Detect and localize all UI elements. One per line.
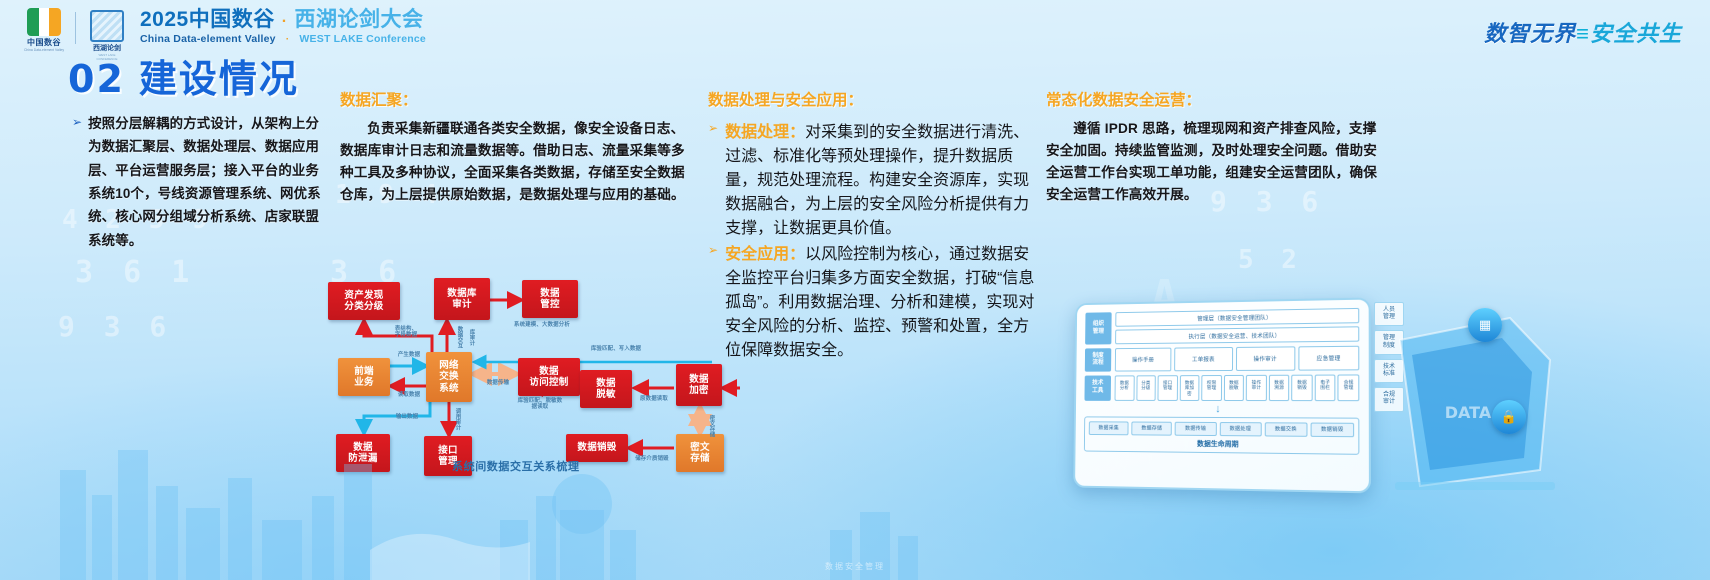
bullet-item: ➢ 按照分层解耦的方式设计，从架构上分为数据汇聚层、数据处理层、数据应用层、平台… bbox=[72, 112, 322, 252]
column-normalized-operation: 常态化数据安全运营： 遵循 IPDR 思路，梳理现网和资产排查风险，支撑安全加固… bbox=[1046, 88, 1390, 209]
flow-label-13: 密文存储 bbox=[708, 412, 714, 440]
flow-label-1: 表结构、 字段数据 bbox=[382, 326, 430, 339]
flow-label-5: 产生数据 bbox=[388, 352, 430, 358]
flow-node-encrypt[interactable]: 数据 加密 bbox=[676, 364, 722, 406]
flow-label-12: 原数据读取 bbox=[634, 396, 674, 402]
col2-heading: 数据汇聚： bbox=[340, 88, 688, 110]
mockup-lifecycle-cell: 数据交换 bbox=[1264, 422, 1307, 437]
watermark-digits: 3 6 1 bbox=[75, 255, 195, 290]
flow-diagram: 资产发现 分类分级 数据库 审计 数据 管控 前端 业务 网络 交换 系统 数据… bbox=[322, 276, 742, 486]
header-title-dot-en: · bbox=[286, 33, 290, 45]
col4-paragraph: 遵循 IPDR 思路，梳理现网和资产排查风险，支撑安全加固。持续监管监测，及时处… bbox=[1046, 118, 1390, 206]
flow-label-7: 输出数据 bbox=[384, 414, 430, 420]
svg-text:DATA: DATA bbox=[1445, 403, 1492, 422]
header-title-cn-a: 2025中国数谷 bbox=[140, 8, 275, 31]
mockup-lifecycle-cell: 数据销毁 bbox=[1310, 422, 1354, 437]
logo2-emblem bbox=[90, 10, 124, 42]
page-title: 02建设情况 bbox=[68, 48, 299, 103]
mockup-tool-cell: 数据 销毁 bbox=[1292, 375, 1313, 401]
mockup-arrow-down-icon: ↓ bbox=[1084, 405, 1359, 416]
col3-heading: 数据处理与安全应用： bbox=[708, 88, 1044, 110]
header-title-cn-b: 西湖论剑大会 bbox=[295, 8, 424, 31]
mockup-tool-cell: 数据 溯源 bbox=[1269, 375, 1290, 401]
column-data-aggregation: 数据汇聚： 负责采集新疆联通各类安全数据，像安全设备日志、数据库审计日志和流量数… bbox=[340, 88, 688, 209]
mockup-tool-cell: 权限 管理 bbox=[1201, 375, 1221, 401]
footer-watermark: 数据安全管理 bbox=[825, 561, 885, 572]
platform-mockup: 组织 管理 管理层（数据安全管理团队） 执行层（数据安全运营、技术团队） 制度 … bbox=[1073, 297, 1371, 493]
flow-caption: 系统间数据交互关系梳理 bbox=[452, 458, 580, 474]
section-number: 02 bbox=[68, 57, 125, 101]
flow-label-2: 数据交互 bbox=[456, 322, 462, 352]
flow-node-dbaudit[interactable]: 数据库 审计 bbox=[434, 278, 490, 320]
mockup-side-tools: 技术 工具 bbox=[1084, 375, 1111, 400]
flow-label-3: 库审计 bbox=[468, 322, 474, 352]
flow-label-6: 读取数据 bbox=[388, 392, 430, 398]
mockup-process-cell: 操作审计 bbox=[1235, 346, 1295, 371]
mockup-tool-cell: 分类 分级 bbox=[1136, 375, 1156, 400]
flow-label-14: 储存介质销毁 bbox=[630, 456, 674, 462]
mockup-tool-cell: 电子 围栏 bbox=[1315, 375, 1336, 401]
col4-heading: 常态化数据安全运营： bbox=[1046, 88, 1390, 110]
flow-label-10: 库验匹配、写入数据 bbox=[570, 346, 662, 352]
col3-item-1: ➢ 数据处理：对采集到的安全数据进行清洗、过滤、标准化等预处理操作，提升数据质量… bbox=[708, 118, 1044, 238]
column-processing-application: 数据处理与安全应用： ➢ 数据处理：对采集到的安全数据进行清洗、过滤、标准化等预… bbox=[708, 88, 1044, 360]
mockup-lifecycle-title: 数据生命周期 bbox=[1089, 438, 1355, 451]
flow-node-access[interactable]: 数据 访问控制 bbox=[518, 358, 580, 396]
mockup-process-cell: 应急管理 bbox=[1298, 346, 1359, 371]
bullet-marker-icon: ➢ bbox=[72, 112, 82, 132]
bullet-marker-icon: ➢ bbox=[708, 118, 718, 139]
mockup-tool-cell: 数据 分析 bbox=[1115, 375, 1135, 400]
mockup-lifecycle: 数据采集 数据存储 数据传输 数据处理 数据交换 数据销毁 数据生命周期 bbox=[1084, 416, 1360, 454]
flow-node-leak[interactable]: 数据 防泄漏 bbox=[336, 434, 390, 472]
mockup-side-org: 组织 管理 bbox=[1085, 312, 1112, 344]
header-slogan: 数智无界≡安全共生 bbox=[1484, 16, 1682, 48]
lock-badge-icon: 🔒 bbox=[1492, 400, 1526, 434]
flow-node-dbctrl[interactable]: 数据 管控 bbox=[522, 280, 578, 318]
logo-china-data-valley: 中国数谷 China Data-element Valley bbox=[22, 8, 66, 48]
mockup-org-row-1: 管理层（数据安全管理团队） bbox=[1115, 308, 1359, 327]
mockup-side-process: 制度 流程 bbox=[1085, 348, 1112, 372]
mockup-tool-cell: 合规 管理 bbox=[1338, 374, 1359, 401]
mockup-process-cell: 操作手册 bbox=[1115, 348, 1172, 372]
mockup-org-row-2: 执行层（数据安全运营、技术团队） bbox=[1115, 326, 1359, 344]
flow-label-8: 数据传输 bbox=[478, 380, 518, 386]
flow-node-cipher[interactable]: 密文 存储 bbox=[676, 434, 724, 472]
col3-item-2-key: 安全应用： bbox=[725, 246, 805, 263]
flow-node-mask[interactable]: 数据 脱敏 bbox=[580, 370, 632, 408]
bullet-marker-icon: ➢ bbox=[708, 240, 718, 261]
header-title-dot: · bbox=[282, 13, 288, 30]
header-title-en-a: China Data-element Valley bbox=[140, 33, 276, 45]
column-architecture: ➢ 按照分层解耦的方式设计，从架构上分为数据汇聚层、数据处理层、数据应用层、平台… bbox=[72, 112, 322, 252]
slide-canvas: 4 2 5 9 3 6 1 9 3 6 1 9 4 3 6 9 3 6 5 2 … bbox=[0, 0, 1710, 580]
col2-paragraph: 负责采集新疆联通各类安全数据，像安全设备日志、数据库审计日志和流量数据等。借助日… bbox=[340, 118, 688, 206]
flow-node-frontend[interactable]: 前端 业务 bbox=[338, 358, 390, 396]
flow-node-asset[interactable]: 资产发现 分类分级 bbox=[328, 282, 400, 320]
mockup-tool-cell: 接口 管理 bbox=[1158, 375, 1178, 401]
watermark-digits: 9 3 6 bbox=[58, 310, 172, 343]
header-title: 2025中国数谷·西湖论剑大会 China Data-element Valle… bbox=[140, 9, 426, 45]
mockup-tool-cell: 数据 脱敏 bbox=[1224, 375, 1245, 401]
watermark-digits: 5 2 bbox=[1238, 245, 1303, 275]
section-title: 建设情况 bbox=[139, 59, 299, 101]
col3-item-2: ➢ 安全应用：以风险控制为核心，通过数据安全监控平台归集多方面安全数据，打破“信… bbox=[708, 240, 1044, 360]
slogan-part-b: 安全共生 bbox=[1590, 21, 1682, 46]
logo1-caption: 中国数谷 China Data-element Valley bbox=[22, 37, 66, 52]
mockup-lifecycle-cell: 数据存储 bbox=[1131, 421, 1172, 435]
mockup-lifecycle-cell: 数据采集 bbox=[1089, 421, 1129, 435]
flow-node-netsw[interactable]: 网络 交换 系统 bbox=[426, 352, 472, 402]
slogan-part-a: 数智无界 bbox=[1484, 21, 1576, 46]
mockup-tool-cell: 操作 审计 bbox=[1246, 375, 1267, 401]
mockup-row-tools: 技术 工具 数据 分析 分类 分级 接口 管理 数据 库加 密 权限 管理 数据… bbox=[1084, 374, 1359, 401]
flow-label-11: 库验匹配、脱敏数据读取 bbox=[516, 398, 564, 411]
flow-label-9: 调用审计 bbox=[454, 404, 460, 434]
col1-text: 按照分层解耦的方式设计，从架构上分为数据汇聚层、数据处理层、数据应用层、平台运营… bbox=[88, 112, 322, 252]
mockup-tool-cell: 数据 库加 密 bbox=[1179, 375, 1199, 401]
mockup-row-process: 制度 流程 操作手册 工单报表 操作审计 应急管理 bbox=[1085, 346, 1360, 372]
chart-badge-icon: ▦ bbox=[1468, 308, 1502, 342]
logo-mark bbox=[27, 8, 61, 36]
mockup-row-org: 组织 管理 管理层（数据安全管理团队） 执行层（数据安全运营、技术团队） bbox=[1085, 308, 1359, 345]
mockup-lifecycle-cell: 数据处理 bbox=[1219, 422, 1261, 436]
mockup-lifecycle-cell: 数据传输 bbox=[1175, 422, 1216, 436]
flow-label-4: 系统建模、大数据分析 bbox=[494, 322, 590, 328]
header-divider bbox=[75, 12, 76, 44]
mockup-process-cell: 工单报表 bbox=[1174, 347, 1232, 371]
col3-item-1-key: 数据处理： bbox=[725, 124, 805, 141]
header-title-en-b: WEST LAKE Conference bbox=[299, 33, 426, 45]
